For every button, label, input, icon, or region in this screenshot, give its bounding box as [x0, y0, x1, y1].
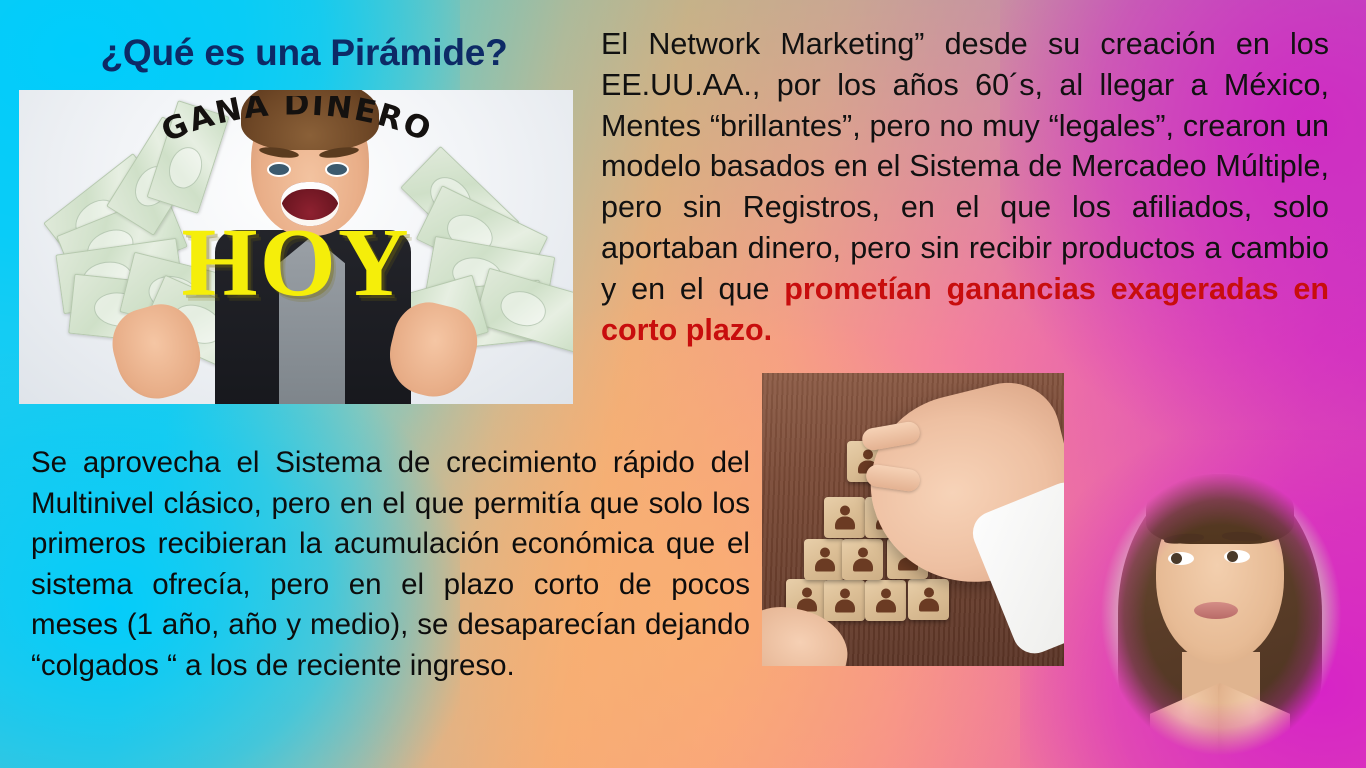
wooden-block: [824, 580, 865, 621]
man-hair: [241, 90, 379, 150]
person-icon: [852, 547, 874, 571]
woman-hair-top: [1146, 474, 1294, 544]
woman-portrait-photo: [1090, 460, 1352, 768]
wooden-block: [842, 539, 883, 580]
woman-steeple-hands: [1150, 682, 1290, 768]
person-icon: [834, 505, 856, 529]
slide-canvas: ¿Qué es una Pirámide?: [0, 0, 1366, 768]
woman-lips: [1194, 602, 1238, 619]
right-paragraph-body: El Network Marketing” desde su creación …: [601, 27, 1329, 306]
person-icon: [918, 587, 940, 611]
man-eye-left: [267, 162, 291, 177]
woman-hand-right: [1218, 682, 1290, 766]
woman-hand-left: [1150, 682, 1222, 766]
person-icon: [796, 587, 818, 611]
pyramid-blocks-photo: [762, 373, 1064, 666]
wooden-block: [804, 539, 845, 580]
woman-eye-right: [1224, 550, 1250, 563]
man-eye-right: [325, 162, 349, 177]
wooden-block: [908, 579, 949, 620]
left-paragraph: Se aprovecha el Sistema de crecimiento r…: [31, 443, 750, 686]
money-photo: GANA DINERO HOY: [19, 90, 573, 404]
person-icon: [814, 547, 836, 571]
wooden-block: [865, 580, 906, 621]
person-icon: [875, 588, 897, 612]
person-icon: [834, 588, 856, 612]
hoy-overlay-text: HOY: [19, 214, 573, 312]
woman-eye-left: [1168, 552, 1194, 565]
wooden-block: [824, 497, 865, 538]
page-title: ¿Qué es una Pirámide?: [34, 34, 574, 73]
right-paragraph: El Network Marketing” desde su creación …: [601, 24, 1329, 350]
